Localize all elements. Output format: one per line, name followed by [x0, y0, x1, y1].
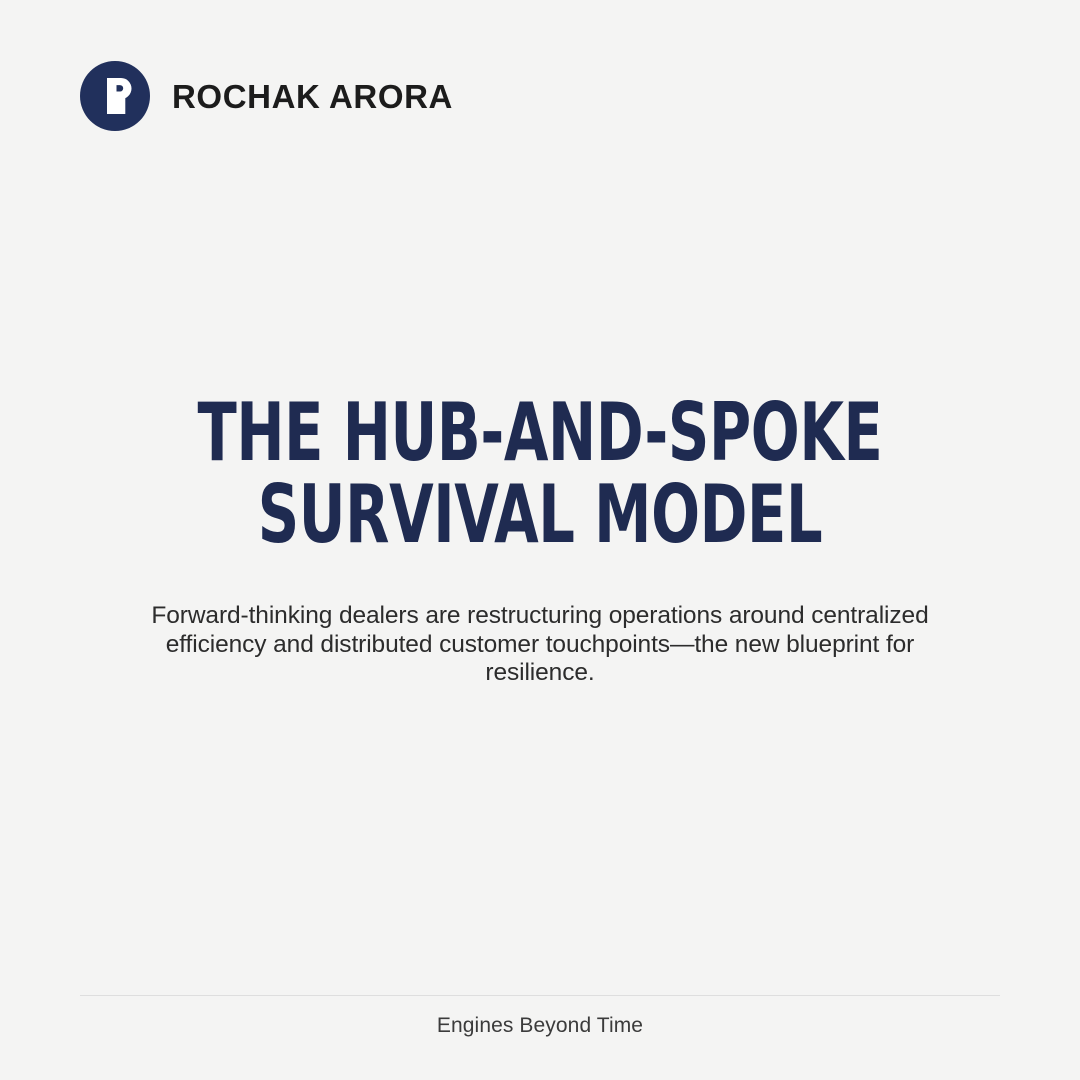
- brand-name: ROCHAK ARORA: [172, 80, 453, 113]
- brand-monogram-icon: [80, 61, 150, 131]
- page-title: THE HUB-AND-SPOKE SURVIVAL MODEL: [108, 392, 972, 556]
- hero-content: THE HUB-AND-SPOKE SURVIVAL MODEL Forward…: [0, 392, 1080, 688]
- page-subtitle: Forward-thinking dealers are restructuri…: [140, 602, 940, 688]
- footer-divider: [80, 995, 1000, 996]
- footer-tagline: Engines Beyond Time: [80, 1013, 1000, 1038]
- footer: Engines Beyond Time: [80, 995, 1000, 1038]
- slide-canvas: ROCHAK ARORA THE HUB-AND-SPOKE SURVIVAL …: [0, 0, 1080, 1080]
- brand-header: ROCHAK ARORA: [80, 61, 453, 131]
